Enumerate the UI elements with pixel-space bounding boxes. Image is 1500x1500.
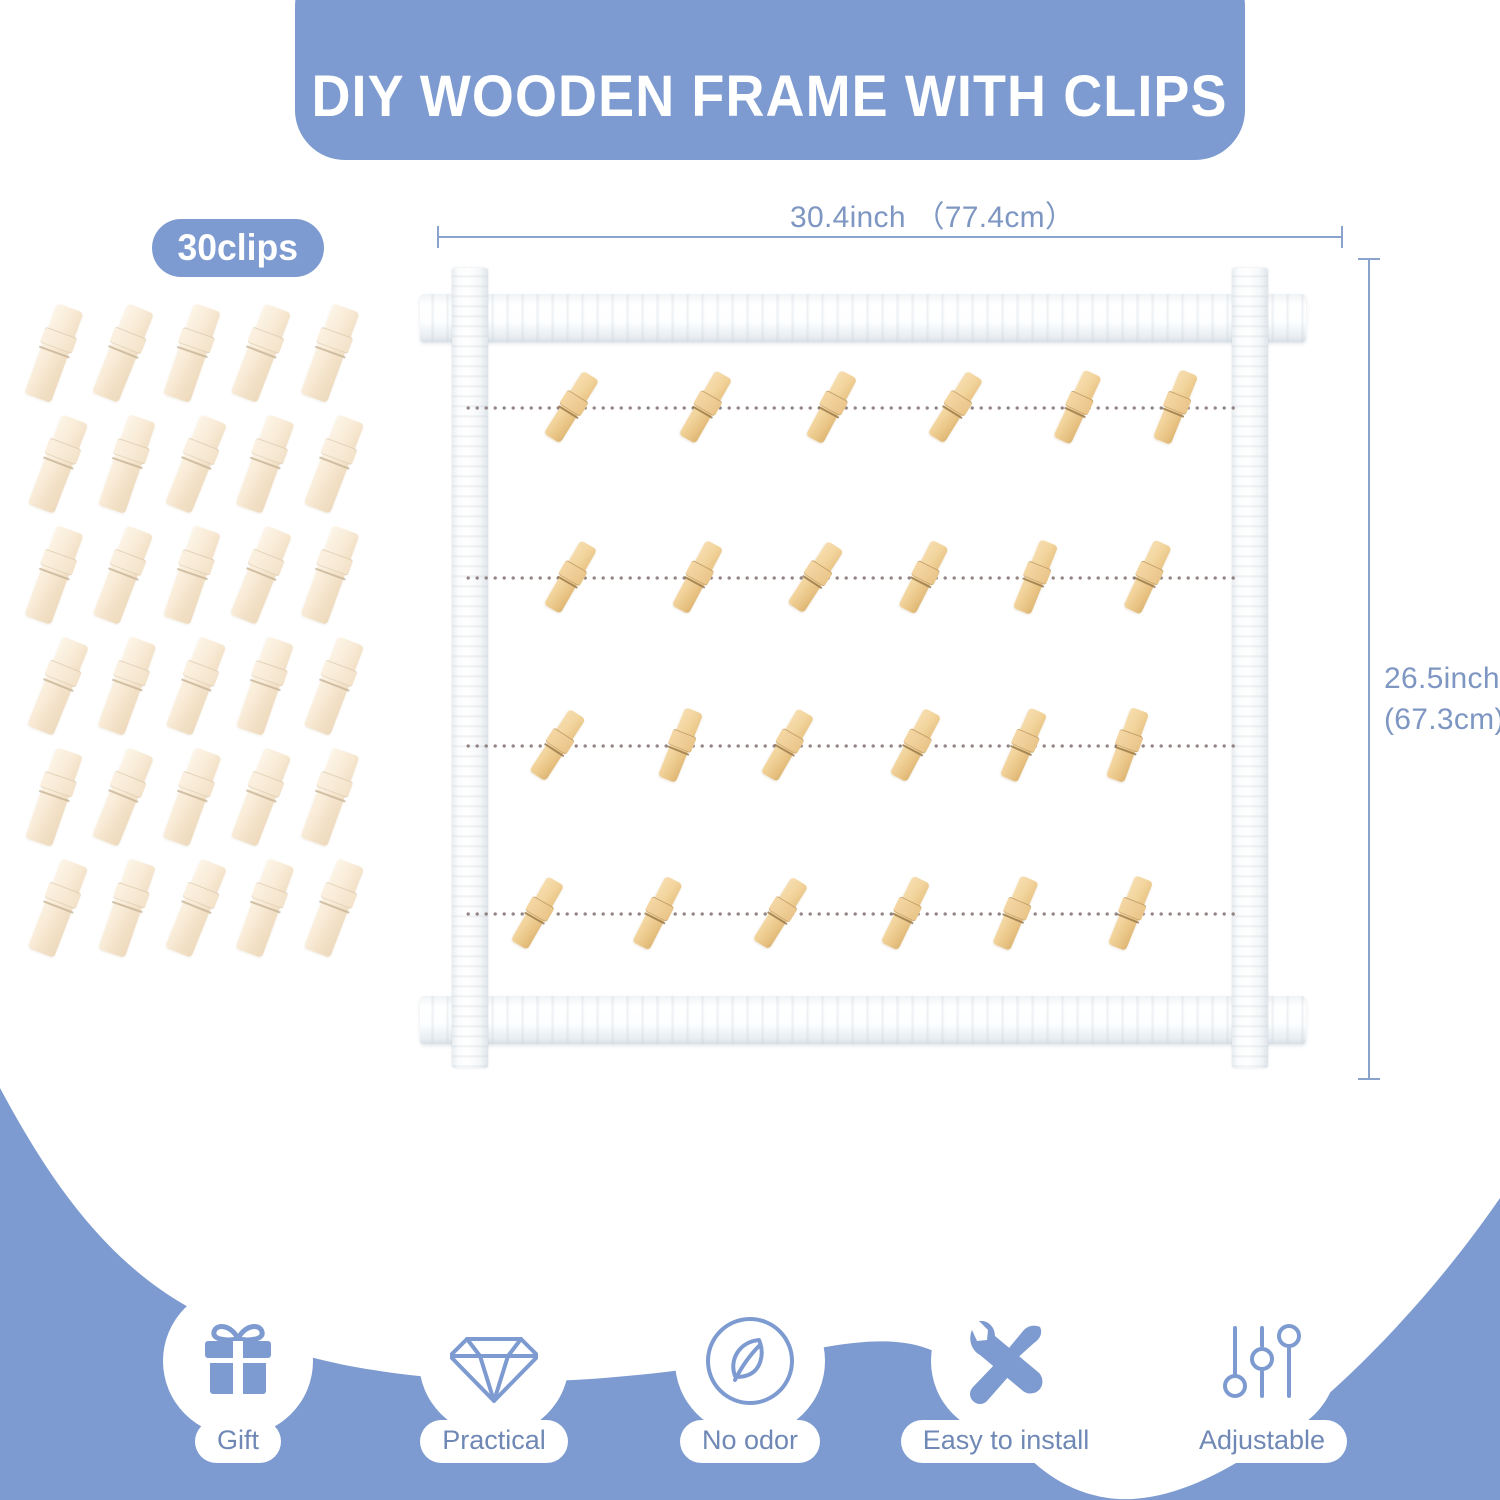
feature-easy-install: Easy to install — [920, 1286, 1092, 1463]
loose-clip — [304, 858, 365, 958]
loose-clip — [25, 747, 83, 847]
loose-clip — [235, 858, 294, 958]
feature-adjustable-label: Adjustable — [1199, 1425, 1325, 1455]
wrench-screwdriver-icon — [960, 1315, 1052, 1407]
feature-adjustable: Adjustable — [1176, 1286, 1348, 1463]
loose-clip — [230, 525, 292, 624]
loose-clip — [163, 303, 221, 403]
loose-clip — [166, 636, 227, 736]
feature-gift: Gift — [152, 1286, 324, 1463]
loose-clip — [98, 414, 156, 514]
height-dimension-inch: 26.5inch — [1384, 658, 1500, 699]
height-dimension-cm: (67.3cm) — [1384, 699, 1500, 740]
feature-practical-label: Practical — [442, 1425, 546, 1455]
loose-clip — [300, 525, 359, 625]
loose-clip — [231, 747, 292, 847]
infographic-canvas: DIY WOODEN FRAME WITH CLIPS 30clips 30.4… — [0, 0, 1500, 1500]
leaf-circle-icon — [703, 1314, 797, 1408]
frame-top-rail — [420, 294, 1306, 342]
frame-bottom-rail — [420, 996, 1306, 1044]
feature-no-odor-circle — [675, 1286, 825, 1436]
diamond-icon — [450, 1317, 538, 1405]
feature-practical-circle — [419, 1286, 569, 1436]
loose-clip — [24, 303, 83, 403]
loose-clip — [98, 858, 156, 958]
frame-right-post — [1232, 268, 1268, 1068]
loose-clip — [304, 636, 365, 736]
feature-easy-install-label: Easy to install — [923, 1425, 1090, 1455]
title-banner: DIY WOODEN FRAME WITH CLIPS — [295, 0, 1245, 160]
feature-gift-label: Gift — [217, 1425, 259, 1455]
loose-clip — [24, 525, 83, 625]
page-title: DIY WOODEN FRAME WITH CLIPS — [312, 68, 1228, 126]
loose-clip — [300, 747, 359, 847]
width-dimension-tick-left — [437, 226, 439, 248]
clips-count-label: 30clips — [178, 227, 298, 269]
height-dimension-line — [1368, 258, 1370, 1080]
loose-clip — [27, 636, 89, 735]
loose-clip — [300, 303, 359, 403]
feature-easy-install-pill: Easy to install — [901, 1420, 1112, 1463]
feature-no-odor: No odor — [664, 1286, 836, 1463]
feature-badges: Gift Practical — [0, 1286, 1500, 1500]
loose-clip — [92, 747, 154, 846]
feature-easy-install-circle — [931, 1286, 1081, 1436]
loose-clip — [165, 858, 227, 957]
loose-clip — [162, 747, 221, 847]
loose-clip — [28, 858, 89, 958]
loose-clip — [236, 636, 294, 736]
frame-left-post — [452, 268, 488, 1068]
loose-clips-grid — [40, 305, 390, 985]
width-dimension-line — [437, 236, 1343, 238]
clips-count-badge: 30clips — [152, 219, 324, 277]
gift-box-icon — [192, 1315, 284, 1407]
width-dimension-tick-right — [1341, 226, 1343, 248]
string-row — [466, 912, 1236, 916]
loose-clip — [235, 414, 294, 514]
loose-clip — [92, 303, 154, 402]
loose-clip — [163, 525, 221, 625]
string-row — [466, 406, 1236, 410]
loose-clip — [93, 525, 154, 625]
feature-practical: Practical — [408, 1286, 580, 1463]
feature-gift-pill: Gift — [195, 1420, 281, 1463]
width-dimension-label: 30.4inch （77.4cm） — [790, 192, 1075, 236]
string-row — [466, 744, 1236, 748]
loose-clip — [165, 414, 227, 513]
height-dimension-tick-top — [1358, 258, 1380, 260]
loose-clip — [28, 414, 89, 514]
sliders-icon — [1217, 1316, 1307, 1406]
height-dimension-label: 26.5inch (67.3cm) — [1384, 658, 1500, 740]
string-row — [466, 576, 1236, 580]
feature-no-odor-label: No odor — [702, 1425, 798, 1455]
loose-clip — [304, 414, 365, 514]
wooden-frame — [420, 258, 1330, 1070]
feature-practical-pill: Practical — [420, 1420, 568, 1463]
feature-adjustable-circle — [1187, 1286, 1337, 1436]
feature-adjustable-pill: Adjustable — [1177, 1420, 1347, 1463]
feature-gift-circle — [163, 1286, 313, 1436]
loose-clip — [97, 636, 156, 736]
loose-clip — [231, 303, 292, 403]
feature-no-odor-pill: No odor — [680, 1420, 820, 1463]
